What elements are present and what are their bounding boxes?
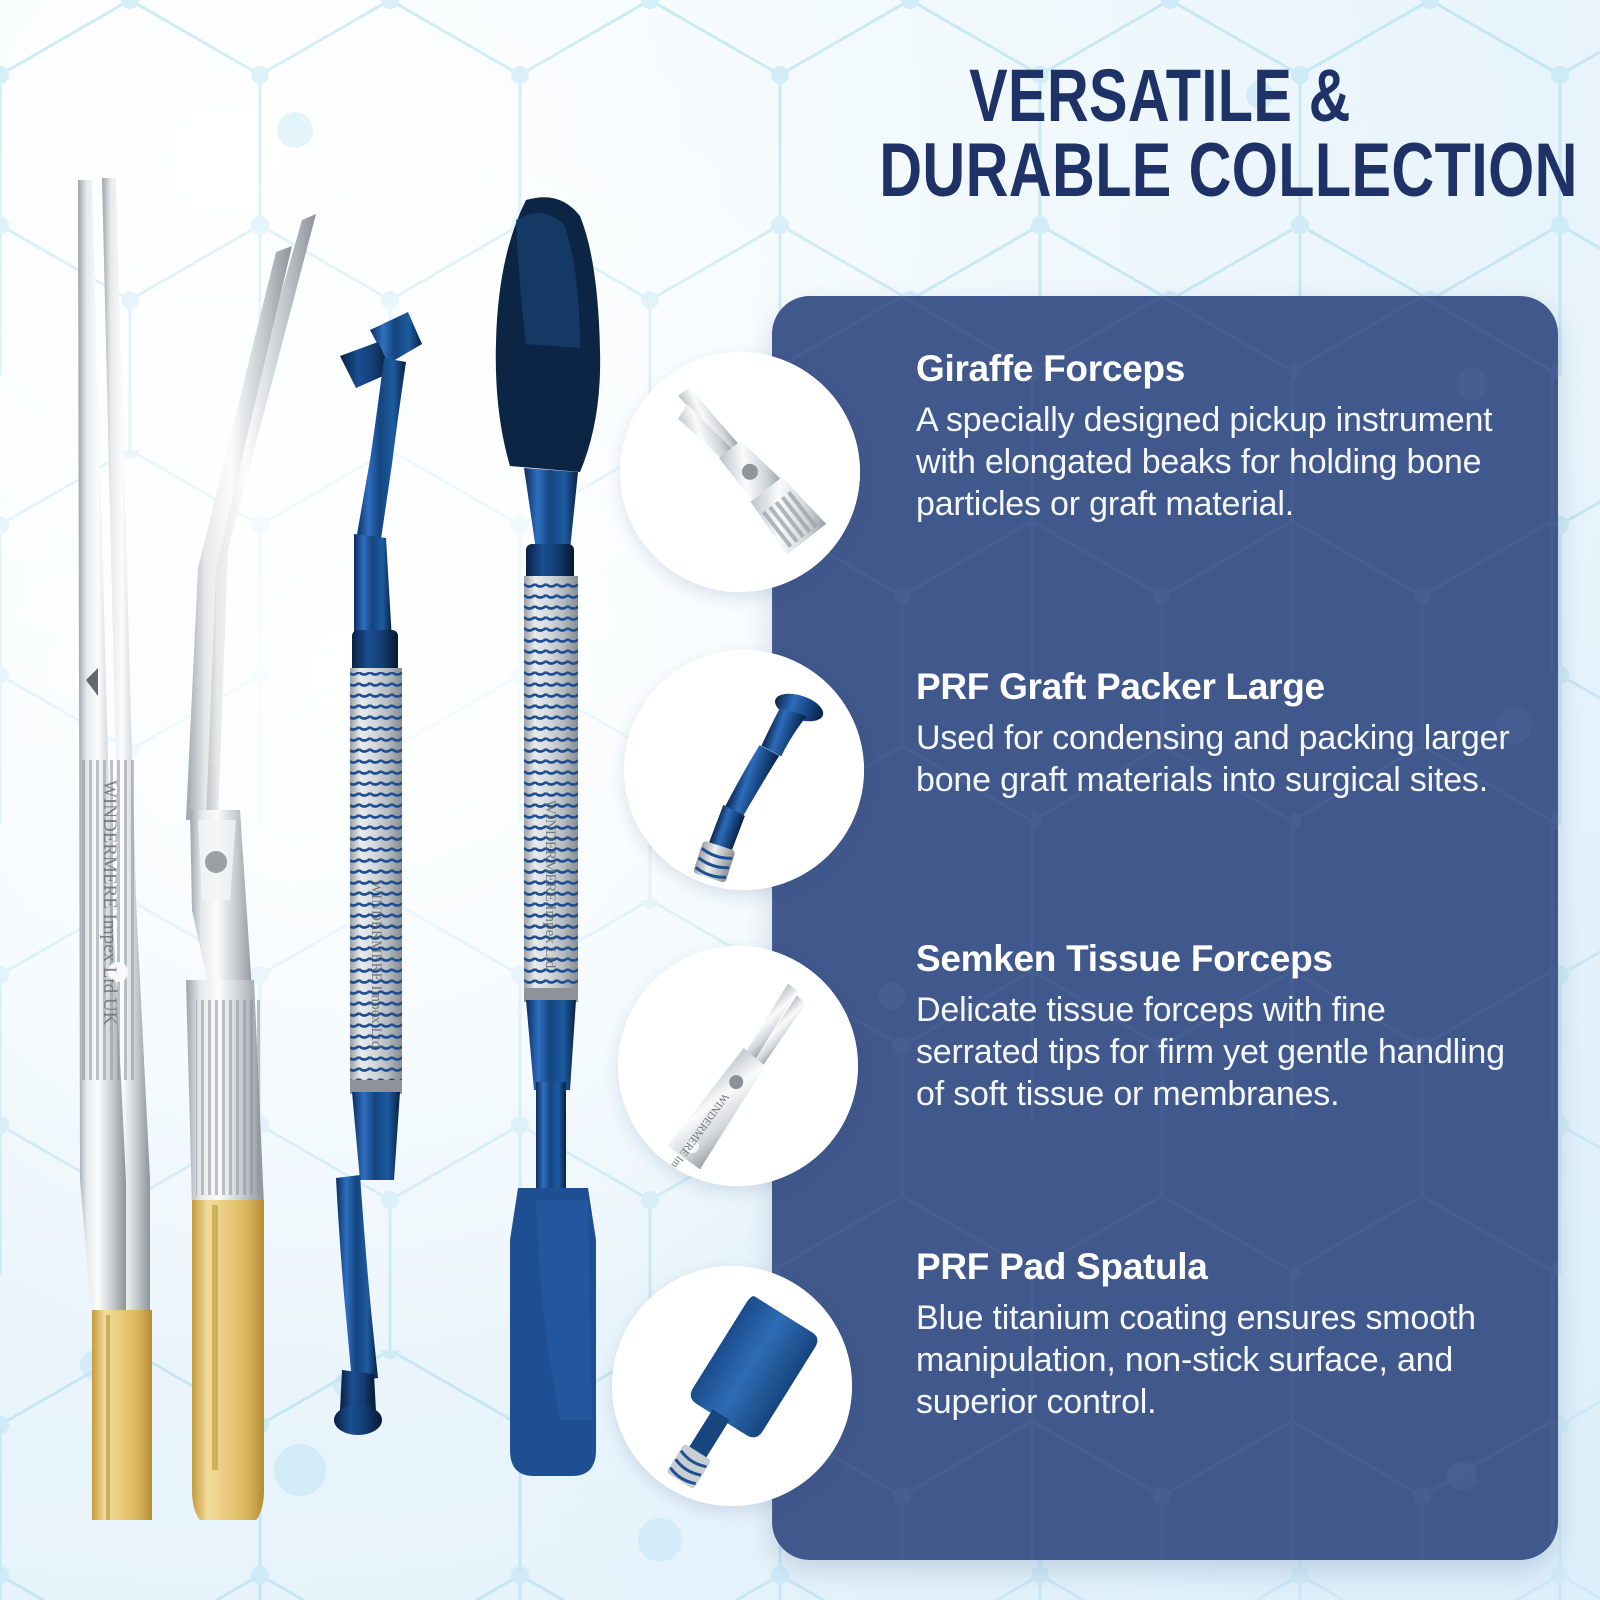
feature-item-prf-graft-packer-large: PRF Graft Packer Large Used for condensi… [916, 666, 1516, 802]
instrument-prf-pad-spatula: WINDERMERE Impex Ltd [496, 197, 600, 1476]
feature-description: Blue titanium coating ensures smooth man… [916, 1298, 1516, 1423]
feature-item-giraffe-forceps: Giraffe Forceps A specially designed pic… [916, 348, 1516, 525]
svg-text:WINDERMERE Impex Ltd: WINDERMERE Impex Ltd [542, 800, 558, 969]
title-line-2: DURABLE COLLECTION [879, 136, 1441, 206]
feature-title: PRF Graft Packer Large [916, 666, 1516, 708]
title-line-1: VERSATILE & [879, 62, 1441, 130]
pad-spatula-thumb-icon [612, 1266, 852, 1506]
feature-item-semken-tissue-forceps: Semken Tissue Forceps Delicate tissue fo… [916, 938, 1516, 1115]
giraffe-forceps-thumb-icon [620, 352, 860, 592]
instrument-giraffe-forceps [186, 214, 316, 1520]
feature-item-prf-pad-spatula: PRF Pad Spatula Blue titanium coating en… [916, 1246, 1516, 1423]
instrument-semken-forceps: WINDERMERE Impex Ltd UK [78, 178, 152, 1520]
feature-description: Used for condensing and packing larger b… [916, 718, 1516, 802]
feature-description: Delicate tissue forceps with fine serrat… [916, 990, 1516, 1115]
semken-forceps-thumb-icon: WINDERMERE Impex Ltd UK [618, 946, 858, 1186]
graft-packer-thumb-icon [624, 650, 864, 890]
page-title: VERSATILE & DURABLE COLLECTION [800, 62, 1520, 206]
feature-title: PRF Pad Spatula [916, 1246, 1516, 1288]
product-photo-instruments: WINDERMERE Impex Ltd UK WINDERMERE Impex… [40, 120, 640, 1520]
instrument-prf-graft-packer: WINDERMERE Impex Ltd [334, 312, 422, 1435]
feature-title: Giraffe Forceps [916, 348, 1516, 390]
svg-text:WINDERMERE Impex Ltd UK: WINDERMERE Impex Ltd UK [99, 780, 120, 1026]
feature-title: Semken Tissue Forceps [916, 938, 1516, 980]
svg-text:WINDERMERE Impex Ltd: WINDERMERE Impex Ltd [368, 880, 384, 1049]
feature-description: A specially designed pickup instrument w… [916, 400, 1516, 525]
